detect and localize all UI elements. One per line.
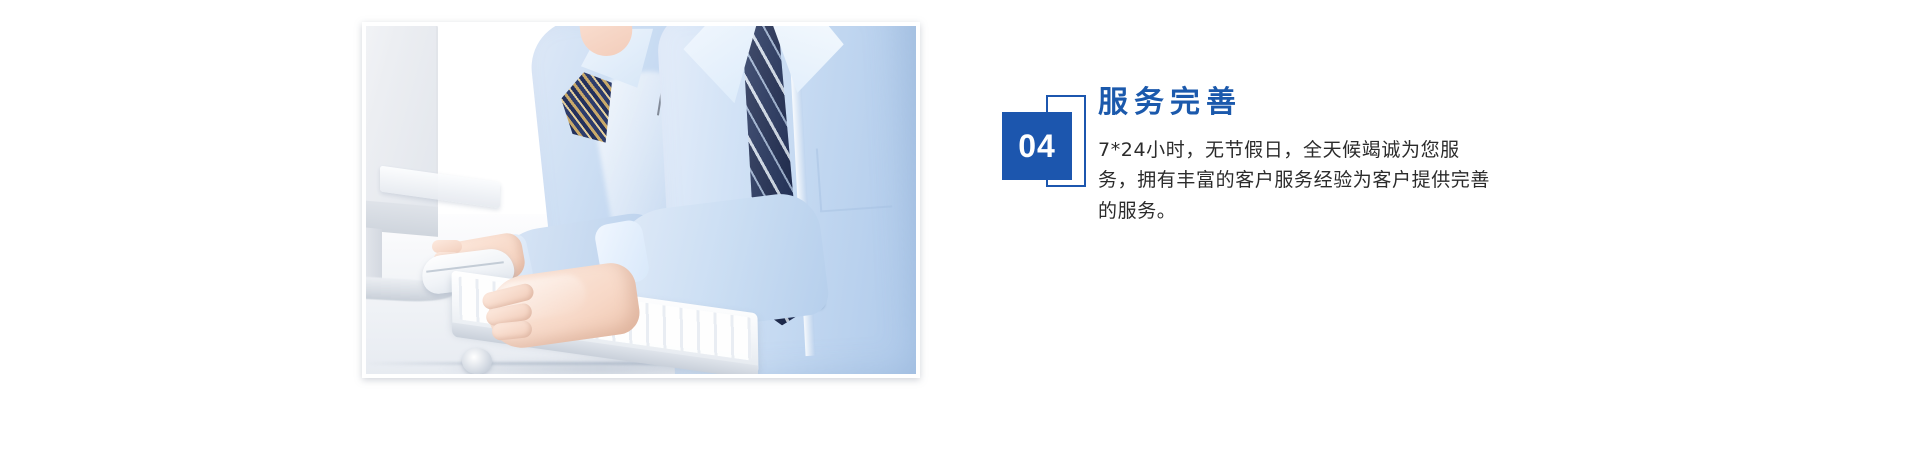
feature-number-badge: 04 (1000, 108, 1072, 178)
feature-text-column: 服务完善 7*24小时，无节假日，全天候竭诚为您服务，拥有丰富的客户服务经验为客… (1098, 86, 1498, 227)
badge-filled-square: 04 (1002, 112, 1072, 180)
agent-front-shirt-pocket (816, 144, 892, 213)
feature-title: 服务完善 (1098, 86, 1498, 121)
office-photo (366, 26, 916, 374)
keyboard-foot (462, 348, 492, 374)
feature-photo-panel (362, 22, 920, 378)
photo-frame (366, 26, 916, 374)
badge-number-text: 04 (1018, 130, 1056, 162)
feature-description: 7*24小时，无节假日，全天候竭诚为您服务，拥有丰富的客户服务经验为客户提供完善… (1098, 135, 1490, 227)
